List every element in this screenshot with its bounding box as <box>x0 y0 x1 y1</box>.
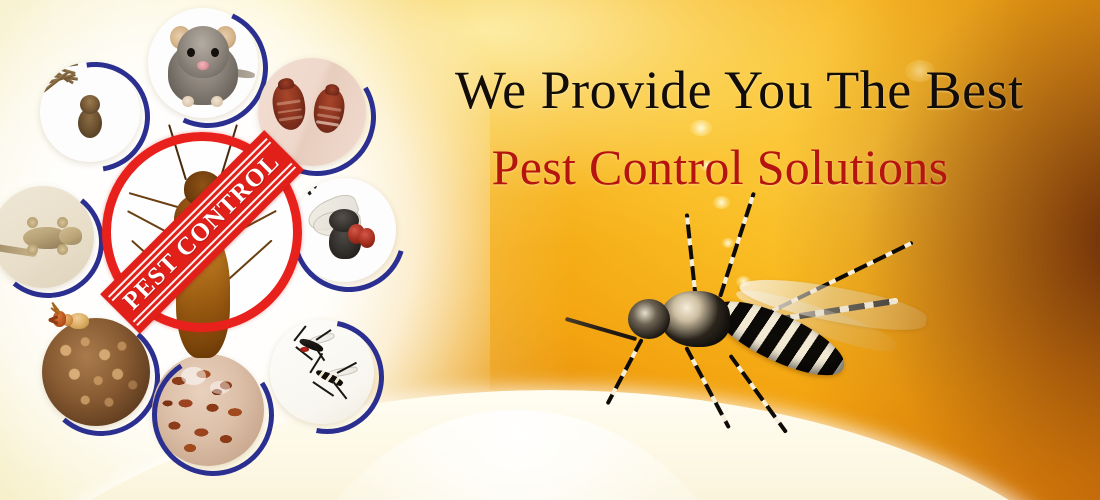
rat-eye <box>187 48 195 58</box>
fly-illustration <box>292 178 396 282</box>
bedbug <box>311 86 348 136</box>
lizard-foot <box>27 217 38 228</box>
mosquitoes-illustration <box>270 320 374 424</box>
mosquito-thorax <box>660 291 730 347</box>
rat-head <box>177 26 230 79</box>
rat-illustration <box>148 8 258 118</box>
lizard-foot <box>57 244 68 255</box>
mosquito-head <box>628 299 670 339</box>
hero-mosquito <box>600 195 1020 485</box>
pest-circle-mosquitoes[interactable] <box>270 320 374 424</box>
bedbug <box>270 80 309 132</box>
rat-nose <box>197 61 209 70</box>
pest-control-banner: We Provide You The Best Pest Control Sol… <box>0 0 1100 500</box>
pest-control-stamp[interactable]: PEST CONTROL <box>102 132 302 332</box>
headline-block: We Provide You The Best Pest Control Sol… <box>455 62 985 194</box>
pest-circle-lizard[interactable] <box>0 186 94 288</box>
mosquito-small <box>305 362 359 404</box>
spider-cephalothorax <box>80 95 100 114</box>
bedbug-head <box>325 83 341 96</box>
mosquito-mid-leg <box>728 354 788 434</box>
fly-eye <box>359 228 376 248</box>
pest-circle-rat[interactable] <box>148 8 258 118</box>
lizard-foot <box>57 217 68 228</box>
lizard-foot <box>27 244 38 255</box>
rat-paw <box>211 96 223 107</box>
mosquito-leg <box>312 381 334 396</box>
mosquito-mid-leg <box>605 338 643 405</box>
termite-soldier <box>50 306 94 340</box>
pest-collage: PEST CONTROL <box>0 0 420 500</box>
headline-line-2: Pest Control Solutions <box>455 141 985 194</box>
rat-paw <box>182 96 194 107</box>
blood-drop <box>300 347 309 352</box>
lizard-illustration <box>0 186 94 288</box>
mosquito-mid-leg <box>684 346 731 429</box>
pest-circle-fly[interactable] <box>292 178 396 282</box>
headline-line-1: We Provide You The Best <box>455 62 985 119</box>
lizard-head <box>59 227 81 245</box>
mosquito-front-leg <box>685 213 698 301</box>
